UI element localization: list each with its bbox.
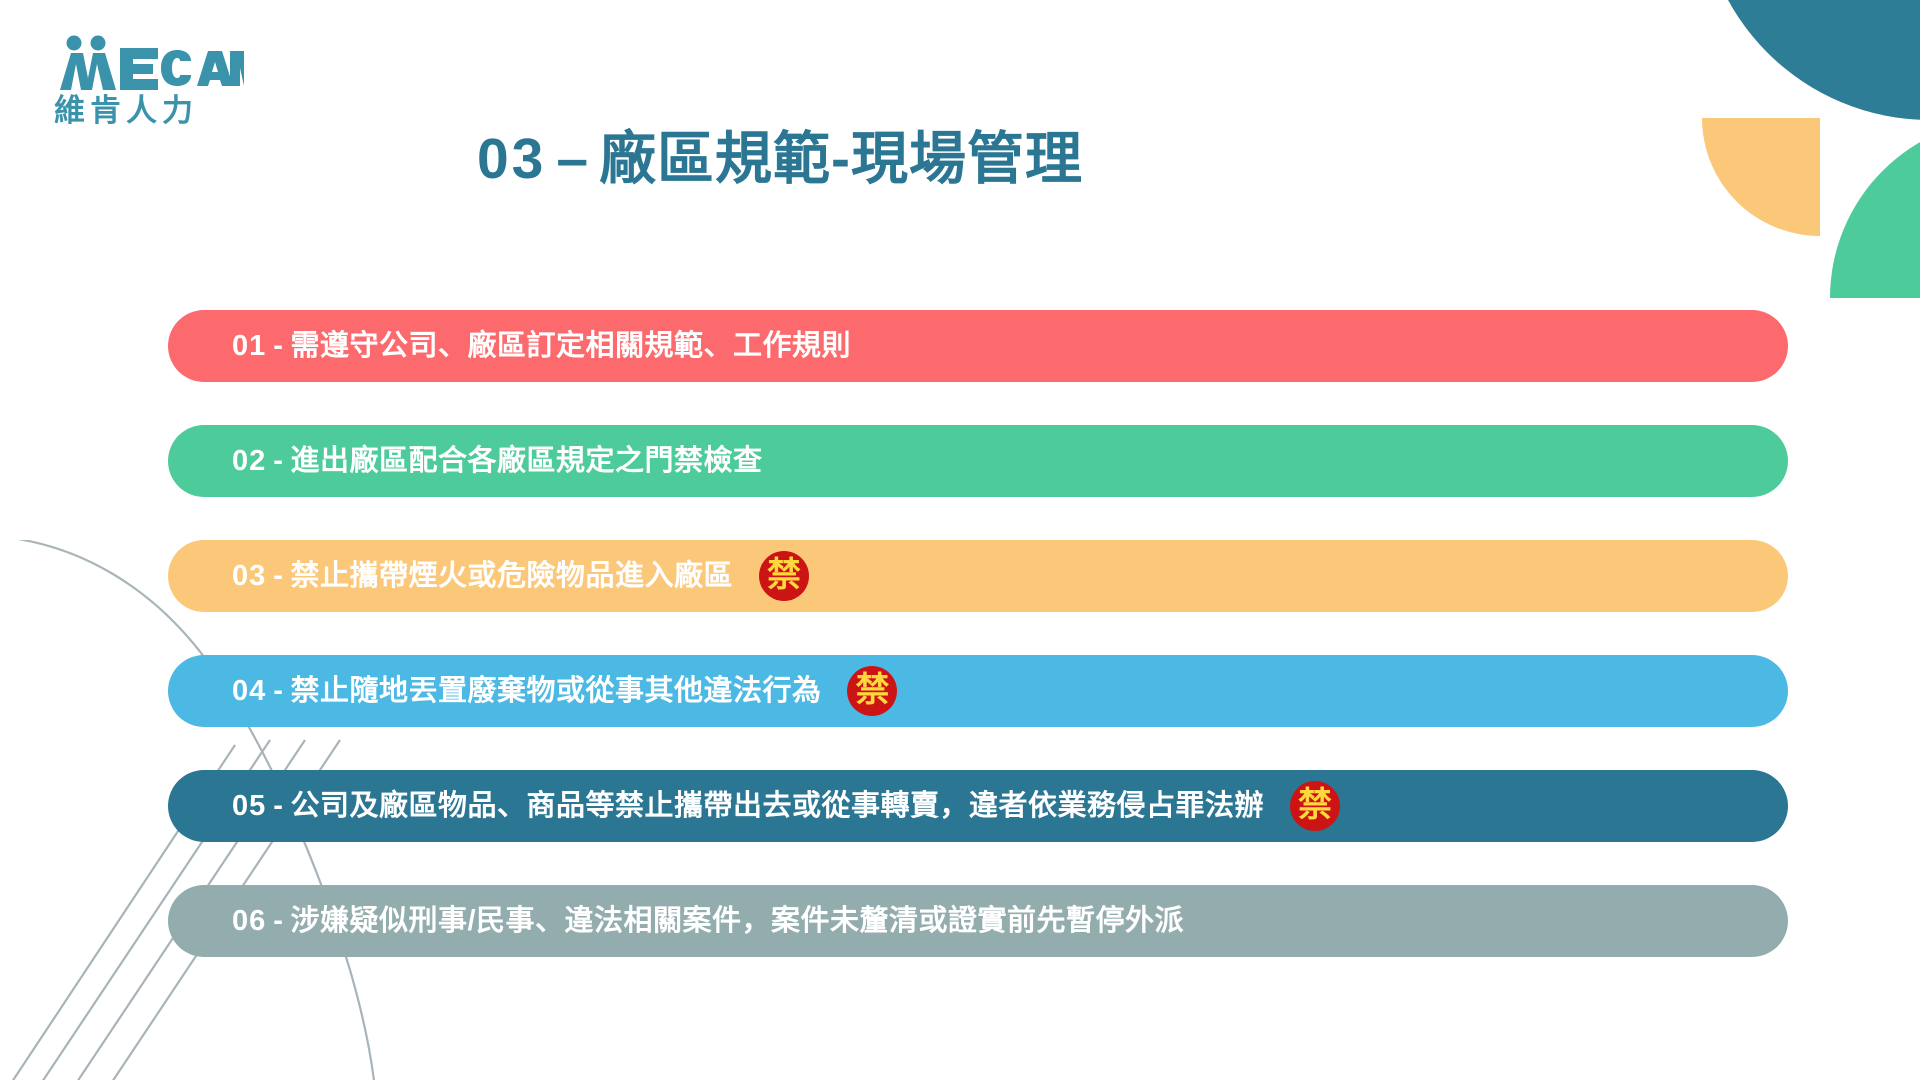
rule-text-05: 公司及廠區物品、商品等禁止攜帶出去或從事轉賣，違者依業務侵占罪法辦: [290, 790, 1264, 822]
wecan-wordmark-icon: [54, 34, 244, 92]
prohibited-badge-icon-04: 禁: [847, 666, 897, 716]
rule-text-01: 需遵守公司、廠區訂定相關規範、工作規則: [290, 330, 851, 362]
rule-sep-06: -: [266, 905, 290, 937]
rule-index-03: 03: [232, 560, 266, 592]
prohibited-badge-icon-03: 禁: [759, 551, 809, 601]
page-title-dash: –: [546, 127, 599, 191]
rule-bar-02[interactable]: 02-進出廠區配合各廠區規定之門禁檢查: [168, 425, 1788, 497]
rule-index-02: 02: [232, 445, 266, 477]
prohibited-badge-icon-05: 禁: [1290, 781, 1340, 831]
rule-bar-06[interactable]: 06-涉嫌疑似刑事/民事、違法相關案件，案件未釐清或證實前先暫停外派: [168, 885, 1788, 957]
rule-text-02: 進出廠區配合各廠區規定之門禁檢查: [290, 445, 762, 477]
rule-index-01: 01: [232, 330, 266, 362]
rule-bar-05[interactable]: 05-公司及廠區物品、商品等禁止攜帶出去或從事轉賣，違者依業務侵占罪法辦 禁: [168, 770, 1788, 842]
decorative-teal-quarter-circle: [1700, 0, 1920, 120]
rule-text-03: 禁止攜帶煙火或危險物品進入廠區: [290, 560, 733, 592]
rule-text-06: 涉嫌疑似刑事/民事、違法相關案件，案件未釐清或證實前先暫停外派: [290, 905, 1184, 937]
rule-bar-04[interactable]: 04-禁止隨地丟置廢棄物或從事其他違法行為 禁: [168, 655, 1788, 727]
rule-sep-02: -: [266, 445, 290, 477]
rule-sep-04: -: [266, 675, 290, 707]
rule-index-04: 04: [232, 675, 266, 707]
rule-bar-01[interactable]: 01-需遵守公司、廠區訂定相關規範、工作規則: [168, 310, 1788, 382]
rules-list: 01-需遵守公司、廠區訂定相關規範、工作規則 02-進出廠區配合各廠區規定之門禁…: [168, 310, 1788, 957]
rule-sep-01: -: [266, 330, 290, 362]
rule-index-05: 05: [232, 790, 266, 822]
rule-label-04: 04-禁止隨地丟置廢棄物或從事其他違法行為: [232, 677, 821, 706]
rule-sep-03: -: [266, 560, 290, 592]
rule-bar-03[interactable]: 03-禁止攜帶煙火或危險物品進入廠區 禁: [168, 540, 1788, 612]
rule-text-04: 禁止隨地丟置廢棄物或從事其他違法行為: [290, 675, 821, 707]
rule-label-03: 03-禁止攜帶煙火或危險物品進入廠區: [232, 562, 733, 591]
decorative-green-quarter-circle: [1830, 118, 1920, 298]
decorative-yellow-quarter-circle: [1702, 118, 1820, 236]
rule-label-06: 06-涉嫌疑似刑事/民事、違法相關案件，案件未釐清或證實前先暫停外派: [232, 907, 1184, 936]
page-title-text: 廠區規範-現場管理: [599, 127, 1083, 191]
rule-label-05: 05-公司及廠區物品、商品等禁止攜帶出去或從事轉賣，違者依業務侵占罪法辦: [232, 792, 1264, 821]
rule-sep-05: -: [266, 790, 290, 822]
rule-label-02: 02-進出廠區配合各廠區規定之門禁檢查: [232, 447, 762, 476]
rule-label-01: 01-需遵守公司、廠區訂定相關規範、工作規則: [232, 332, 851, 361]
slide: 維肯人力 03–廠區規範-現場管理 01-需遵守公司、廠區訂定相關規範、工作規則…: [0, 0, 1920, 1080]
page-title: 03–廠區規範-現場管理: [0, 113, 1560, 195]
page-title-number: 03: [477, 127, 546, 191]
rule-index-06: 06: [232, 905, 266, 937]
